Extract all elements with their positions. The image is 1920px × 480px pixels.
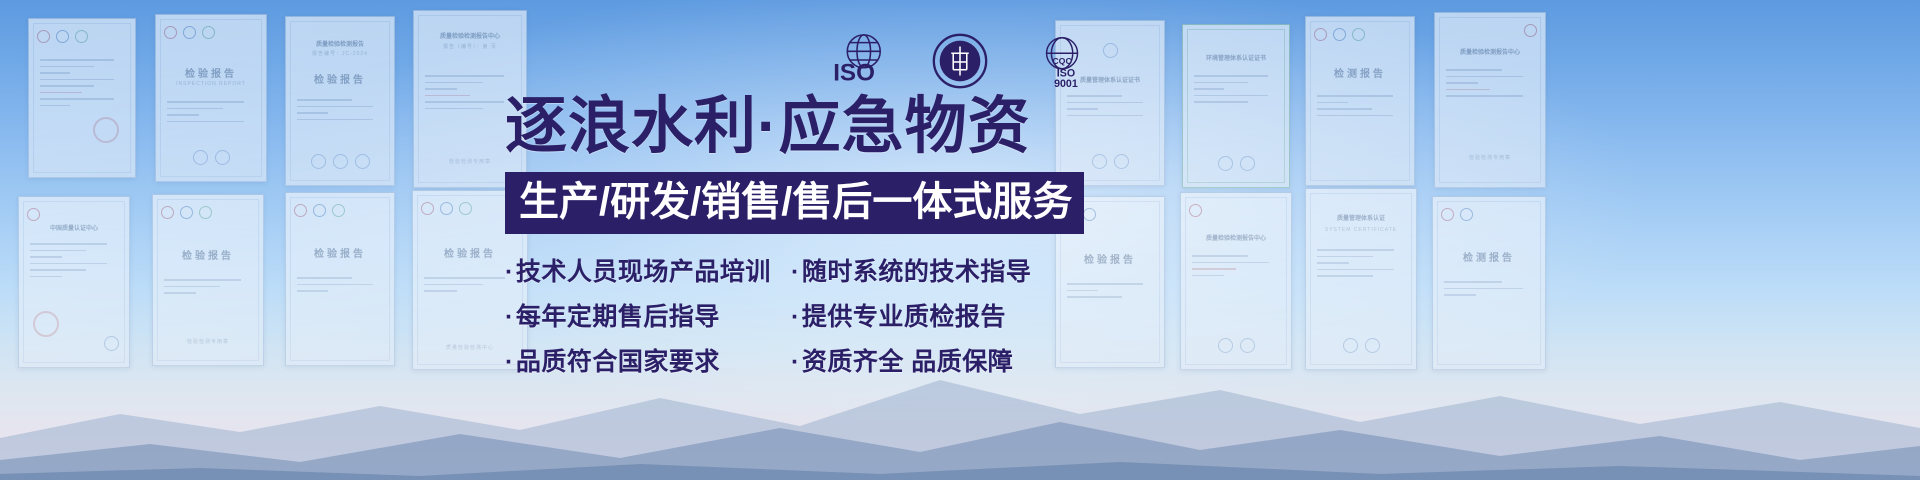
certificate-lines — [1444, 281, 1534, 301]
certificate-title: 质量管理体系认证 — [1306, 213, 1416, 222]
quality-seal-badge — [929, 30, 991, 92]
feature-label: 资质齐全 品质保障 — [802, 348, 1013, 376]
certificate-lines — [1192, 255, 1280, 281]
feature-label: 每年定期售后指导 — [516, 303, 720, 331]
certificate-title: 检测报告 — [1433, 249, 1545, 264]
certificate-marks — [296, 154, 384, 169]
cqc-iso9001-badge: CQC ISO 9001 — [1033, 30, 1095, 92]
feature-list: ·技术人员现场产品培训 ·随时系统的技术指导 ·每年定期售后指导 ·提供专业质检… — [505, 260, 1105, 375]
certificate-stamp — [93, 117, 119, 143]
certificate-title: 检验报告 — [286, 245, 394, 260]
banner-content: 逐浪水利·应急物资 生产/研发/销售/售后一体式服务 ·技术人员现场产品培训 ·… — [505, 96, 1105, 375]
feature-label: 提供专业质检报告 — [802, 303, 1006, 331]
certificate-subtitle: SYSTEM CERTIFICATE — [1306, 227, 1416, 233]
feature-item: ·资质齐全 品质保障 — [791, 350, 1105, 375]
bullet-icon: · — [791, 303, 800, 331]
certificate-lines — [164, 279, 252, 299]
certificate-lines — [167, 101, 255, 127]
svg-text:CQC: CQC — [1052, 56, 1072, 66]
bullet-icon: · — [505, 303, 514, 331]
feature-label: 技术人员现场产品培训 — [516, 258, 771, 286]
certificate-lines — [30, 243, 118, 282]
certificate-logos — [161, 204, 255, 220]
certificate-lines — [1317, 95, 1403, 121]
feature-item: ·技术人员现场产品培训 — [505, 260, 787, 285]
certificate-subtitle: 检验检测专用章 — [1435, 154, 1545, 161]
certificate-marks — [1193, 156, 1279, 171]
certificate-logos — [1441, 206, 1537, 222]
certificate-lines — [424, 277, 516, 297]
feature-label: 随时系统的技术指导 — [802, 258, 1032, 286]
feature-item: ·提供专业质检报告 — [791, 305, 1105, 330]
promo-banner: 检验报告 INSPECTION REPORT 质量检验检测报告 报告编号：JC-… — [0, 0, 1920, 480]
certificate-title: 检验报告 — [153, 247, 263, 262]
certificate-logos — [294, 202, 386, 218]
certificate-lines — [297, 99, 383, 125]
certificate-logos — [27, 206, 121, 222]
certificate-title: 质量检验检测报告中心 — [1181, 233, 1291, 242]
certificate-logos — [1189, 202, 1283, 218]
svg-text:ISO: ISO — [833, 59, 875, 86]
certificate-marks — [166, 150, 256, 165]
certificate-lines — [297, 277, 383, 297]
feature-item: ·品质符合国家要求 — [505, 350, 787, 375]
certification-badges: ISO CQC ISO 9001 — [0, 30, 1920, 92]
svg-text:9001: 9001 — [1054, 78, 1078, 90]
certificate-lines — [1317, 249, 1405, 282]
feature-label: 品质符合国家要求 — [516, 348, 720, 376]
feature-item: ·随时系统的技术指导 — [791, 260, 1105, 285]
feature-item: ·每年定期售后指导 — [505, 305, 787, 330]
bullet-icon: · — [791, 348, 800, 376]
bullet-icon: · — [505, 348, 514, 376]
bullet-icon: · — [791, 258, 800, 286]
banner-title: 逐浪水利·应急物资 — [505, 96, 1105, 158]
banner-subtitle-bar: 生产/研发/销售/售后一体式服务 — [505, 172, 1084, 234]
certificate-title: 中国质量认证中心 — [19, 223, 129, 232]
bullet-icon: · — [505, 258, 514, 286]
iso-globe-badge: ISO — [825, 30, 887, 92]
